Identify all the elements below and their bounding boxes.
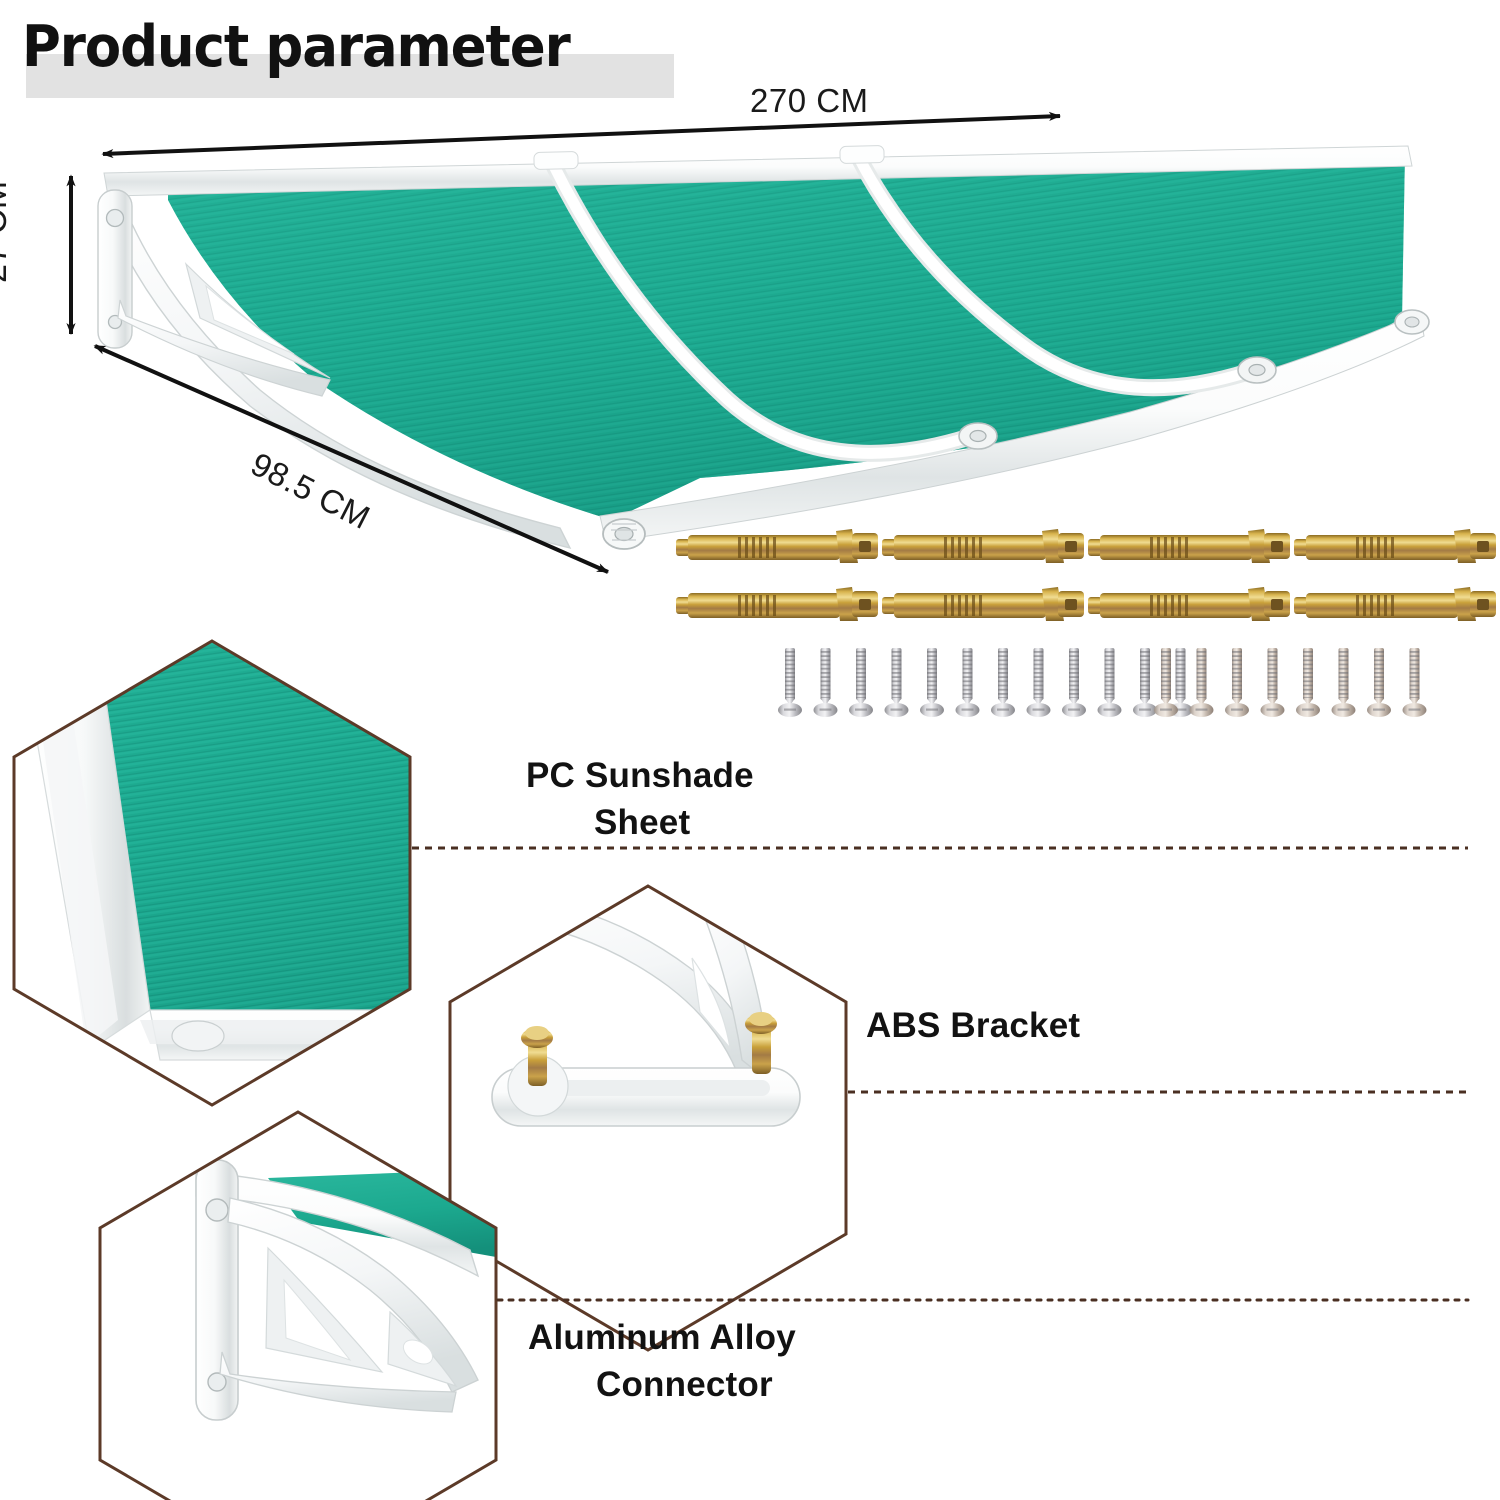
canopy-rib-2-shadow [858,156,1248,388]
brass-bolt [521,1026,553,1086]
bracket-web-cutout [206,286,294,354]
width-dimension-arrow [103,116,1060,154]
anchor-bolt [882,587,1084,621]
callout-line-2: Connector [528,1361,796,1408]
anchor-bolt [1088,529,1290,563]
self-tapping-screw [1169,648,1193,717]
callout-line-1: Aluminum Alloy [528,1318,796,1357]
self-tapping-screw [1190,648,1214,717]
rib-cap-1 [534,152,578,170]
self-tapping-screw [991,648,1015,717]
depth-dimension-arrow [95,346,608,572]
callout-label-pc-sunshade-sheet: PC Sunshade Sheet [526,752,754,846]
depth-dimension-label: 98.5 CM [245,445,376,537]
self-tapping-screw [1062,648,1086,717]
hexagon-outline-aluminum-connector [100,1112,496,1500]
self-tapping-screw [1296,648,1320,717]
callout-line-1: ABS Bracket [866,1006,1080,1045]
canopy-rib-1-shadow [552,162,966,453]
self-tapping-screw [1133,648,1157,717]
self-tapping-screw [1098,648,1122,717]
self-tapping-screw [885,648,909,717]
self-tapping-screw [1225,648,1249,717]
canopy-sheet-texture [168,152,1405,520]
rib-cap-2 [840,146,884,164]
screw-group-left [778,648,1193,717]
bracket-hole-top [107,210,124,227]
anchor-bolt-group [676,529,1496,621]
self-tapping-screw [778,648,802,717]
canopy-rib-2 [858,156,1248,388]
canopy-sheet-base [168,152,1405,520]
height-dimension-label: 27 CM [0,180,15,283]
anchor-bolt [1294,529,1496,563]
screw-group-right [1154,648,1427,717]
width-dimension-label: 270 CM [750,82,869,120]
bracket-lower-strut [118,300,330,396]
hexagon-outline-abs-bracket [450,886,846,1350]
anchor-bolt [676,587,878,621]
detail-hexagon-abs-bracket [450,886,846,1350]
aluminum-connector-2 [1238,357,1276,383]
bracket-hole-bottom [109,316,122,329]
product-illustration [0,0,1500,1500]
detail-hexagon-aluminum-connector [100,1112,524,1500]
aluminum-connector-1 [959,423,997,449]
self-tapping-screw [956,648,980,717]
detail-hexagon-pc-sheet [14,630,470,1105]
canopy-left-endcap [603,519,645,549]
self-tapping-screw [1332,648,1356,717]
canopy-right-endcap [1395,310,1429,334]
callout-line-1: PC Sunshade [526,756,754,795]
anchor-bolt [1088,587,1290,621]
dimension-arrows [71,116,1060,572]
bracket-wall-plate [98,190,132,348]
self-tapping-screw [1027,648,1051,717]
canopy-front-rail [600,312,1424,542]
callout-leader-lines [412,848,1468,1300]
callout-line-2: Sheet [526,799,754,846]
self-tapping-screw [1367,648,1391,717]
self-tapping-screw [1261,648,1285,717]
canopy-top-rail [104,146,1412,196]
callout-label-aluminum-alloy-connector: Aluminum Alloy Connector [528,1314,796,1408]
self-tapping-screw [920,648,944,717]
anchor-bolt [676,529,878,563]
anchor-bolt [1294,587,1496,621]
canopy-rib-1 [552,162,966,453]
callout-label-abs-bracket: ABS Bracket [866,1002,1080,1049]
bracket-web [186,264,330,378]
anchor-bolt [882,529,1084,563]
hexagon-outline-pc-sheet [14,641,410,1105]
page-title: Product parameter [22,8,570,86]
infographic-canvas: Product parameter [0,0,1500,1500]
self-tapping-screw [849,648,873,717]
brass-bolt [745,1012,777,1074]
self-tapping-screw [1154,648,1178,717]
page-title-block: Product parameter [22,8,611,86]
self-tapping-screw [1403,648,1427,717]
self-tapping-screw [814,648,838,717]
